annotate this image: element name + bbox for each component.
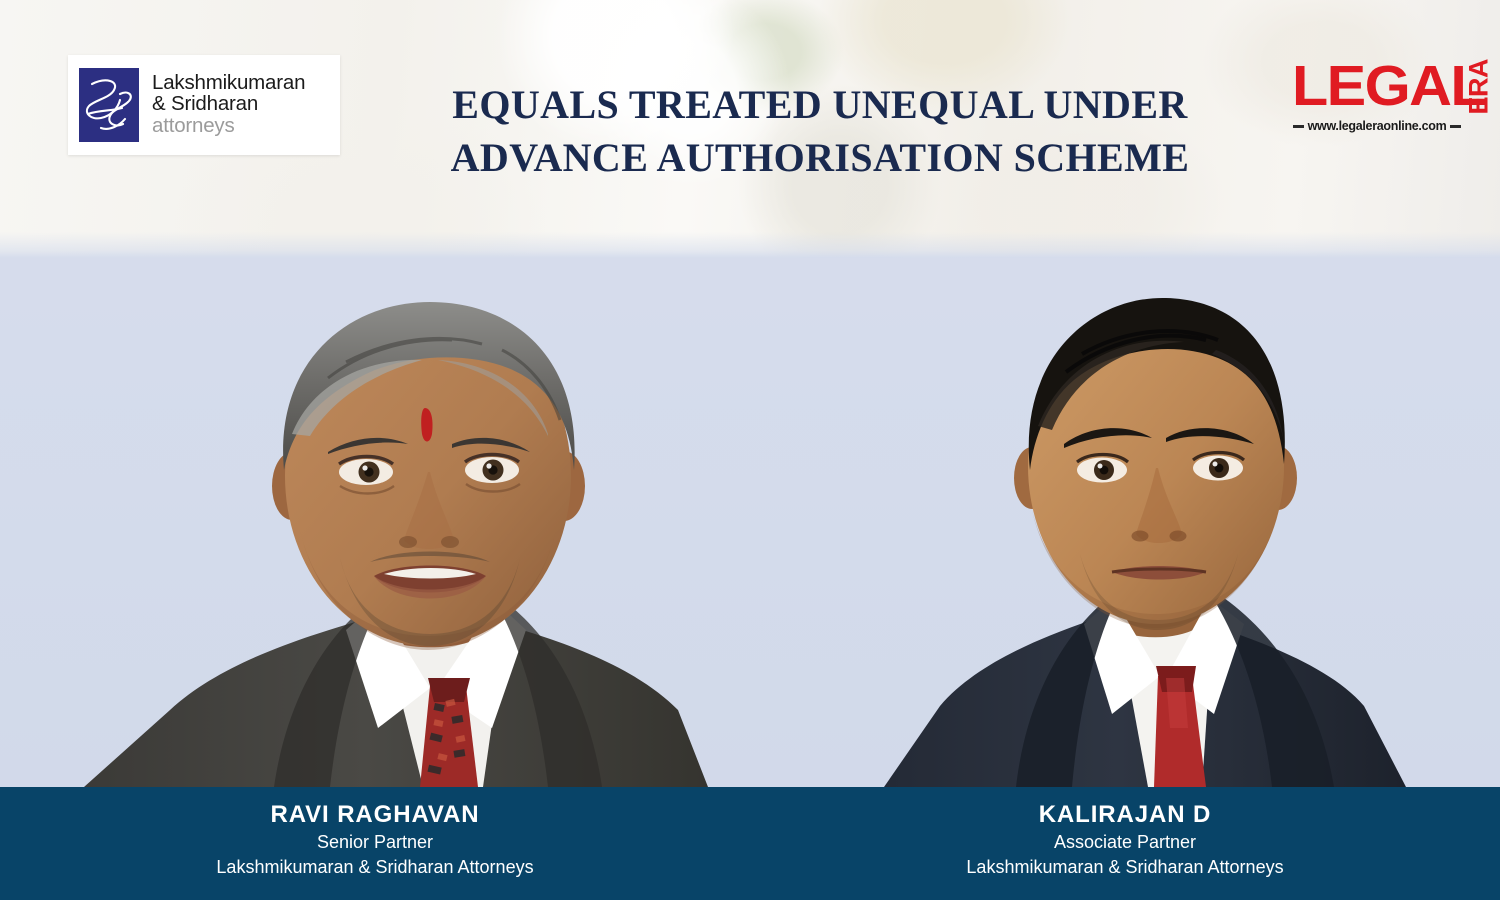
- article-title-line-2: ADVANCE AUTHORISATION SCHEME: [380, 132, 1260, 185]
- person-name-1: RAVI RAGHAVAN: [0, 800, 750, 830]
- legal-era-url-row: www.legaleraonline.com: [1293, 119, 1461, 133]
- legal-era-era-text: ERA: [1466, 59, 1493, 115]
- banner-header: Lakshmikumaran & Sridharan attorneys EQU…: [0, 0, 1500, 258]
- portrait-photo-ravi-raghavan: [78, 258, 718, 787]
- firm-name-line-1: Lakshmikumaran: [152, 73, 305, 94]
- portraits-panel: [0, 258, 1500, 787]
- person-role-2: Associate Partner: [750, 830, 1500, 855]
- firm-logo: Lakshmikumaran & Sridharan attorneys: [68, 55, 340, 155]
- person-firm-2: Lakshmikumaran & Sridharan Attorneys: [750, 855, 1500, 880]
- person-block-2: KALIRAJAN D Associate Partner Lakshmikum…: [750, 800, 1500, 880]
- legal-era-url: www.legaleraonline.com: [1308, 119, 1447, 133]
- legal-era-wordmark: LEGAL: [1292, 58, 1485, 115]
- portrait-photo-kalirajan-d: [866, 258, 1422, 787]
- firm-name-line-2: & Sridharan: [152, 94, 305, 115]
- ls-monogram-icon: [79, 68, 139, 142]
- person-name-2: KALIRAJAN D: [750, 800, 1500, 830]
- person-block-1: RAVI RAGHAVAN Senior Partner Lakshmikuma…: [0, 800, 750, 880]
- article-banner: Lakshmikumaran & Sridharan attorneys EQU…: [0, 0, 1500, 900]
- firm-tagline: attorneys: [152, 116, 305, 137]
- article-title-line-1: EQUALS TREATED UNEQUAL UNDER: [380, 79, 1260, 132]
- person-firm-1: Lakshmikumaran & Sridharan Attorneys: [0, 855, 750, 880]
- name-bar: RAVI RAGHAVAN Senior Partner Lakshmikuma…: [0, 787, 1500, 900]
- legal-era-logo[interactable]: LEGAL ERA www.legaleraonline.com: [1292, 56, 1464, 144]
- article-title: EQUALS TREATED UNEQUAL UNDER ADVANCE AUT…: [380, 79, 1260, 185]
- firm-logo-wordmark: Lakshmikumaran & Sridharan attorneys: [152, 73, 305, 138]
- rule-right: [1450, 125, 1461, 128]
- rule-left: [1293, 125, 1304, 128]
- person-role-1: Senior Partner: [0, 830, 750, 855]
